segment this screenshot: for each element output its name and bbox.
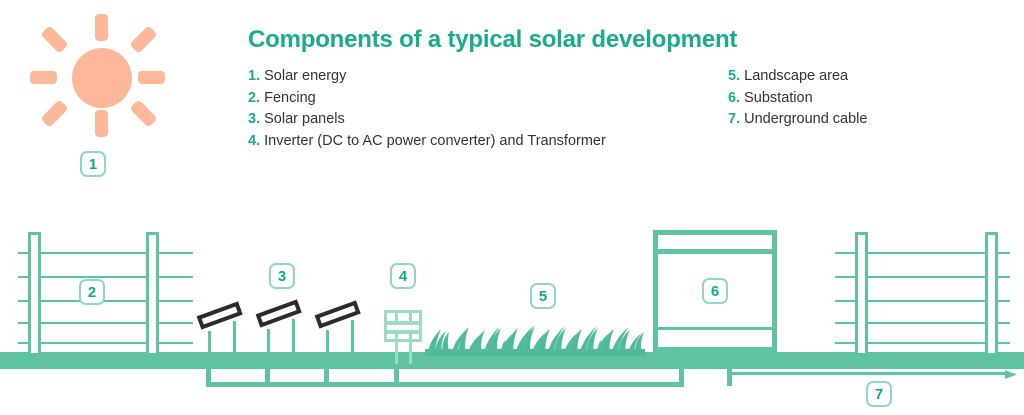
solar-panel-3	[317, 311, 365, 356]
badge-5-landscape-area[interactable]: 5	[530, 283, 556, 309]
legend-label-2: Fencing	[264, 90, 316, 106]
legend-column-right: 5. Landscape area 6. Substation 7. Under…	[728, 66, 867, 131]
badge-3-solar-panels[interactable]: 3	[269, 263, 295, 289]
legend-number-1: 1.	[248, 68, 260, 84]
legend-number-6: 6.	[728, 90, 740, 106]
inverter-divider	[409, 313, 412, 322]
page-title: Components of a typical solar developmen…	[248, 26, 737, 54]
legend-item-1: 1. Solar energy	[248, 66, 606, 88]
cable-collector-bus	[206, 382, 684, 387]
badge-2-fencing[interactable]: 2	[79, 279, 105, 305]
inverter-divider	[409, 333, 412, 342]
solar-panel-leg	[233, 321, 236, 353]
legend-item-7: 7. Underground cable	[728, 109, 867, 131]
substation-leg	[681, 352, 686, 364]
legend-item-5: 5. Landscape area	[728, 66, 867, 88]
legend-item-6: 6. Substation	[728, 88, 867, 110]
fence-post	[28, 232, 41, 353]
fence-wire	[18, 300, 193, 302]
sun-core	[72, 48, 132, 108]
inverter-leg	[409, 342, 412, 364]
sun-ray-n	[95, 14, 108, 41]
sun-icon	[24, 12, 172, 142]
fence-wire	[18, 252, 193, 254]
badge-1-solar-energy[interactable]: 1	[80, 151, 106, 177]
legend-item-4: 4. Inverter (DC to AC power converter) a…	[248, 131, 606, 153]
sun-ray-sw	[40, 99, 68, 127]
inverter-divider	[395, 333, 398, 342]
landscape-grass	[425, 311, 645, 356]
badge-6-substation[interactable]: 6	[702, 278, 728, 304]
badge-7-underground-cable[interactable]: 7	[866, 381, 892, 407]
substation-base-band	[658, 327, 772, 330]
legend-number-7: 7.	[728, 111, 740, 127]
inverter-divider	[395, 313, 398, 322]
legend-label-5: Landscape area	[744, 68, 848, 84]
sun-ray-ne	[129, 25, 157, 53]
solar-development-diagram: Components of a typical solar developmen…	[0, 0, 1024, 415]
legend-item-2: 2. Fencing	[248, 88, 606, 110]
cable-riser-substation-in	[679, 369, 684, 387]
solar-panel-leg	[326, 330, 329, 353]
inverter-leg	[395, 342, 398, 364]
fence-post	[985, 232, 998, 353]
sun-ray-se	[129, 99, 157, 127]
inverter-band	[384, 321, 422, 325]
substation-leg	[744, 352, 749, 364]
legend-number-2: 2.	[248, 90, 260, 106]
solar-panel-leg	[208, 331, 211, 353]
fence-post	[146, 232, 159, 353]
solar-panel-leg	[267, 329, 270, 353]
sun-ray-s	[95, 110, 108, 137]
sun-ray-e	[138, 71, 165, 84]
solar-panel-leg	[292, 319, 295, 353]
fence-post	[855, 232, 868, 353]
substation-roof-band	[658, 249, 772, 254]
fence-wire	[18, 342, 193, 344]
cable-export-arrow	[727, 370, 1017, 380]
legend-number-5: 5.	[728, 68, 740, 84]
legend-number-3: 3.	[248, 111, 260, 127]
legend-label-4: Inverter (DC to AC power converter) and …	[264, 133, 606, 149]
badge-4-inverter[interactable]: 4	[390, 263, 416, 289]
fence-wire	[18, 276, 193, 278]
legend-label-1: Solar energy	[264, 68, 346, 84]
fence-right	[835, 232, 1010, 353]
legend-item-3: 3. Solar panels	[248, 109, 606, 131]
fence-left	[18, 232, 193, 353]
solar-panel-1	[199, 312, 247, 357]
solar-panel-leg	[351, 320, 354, 353]
solar-panel-2	[258, 310, 306, 355]
legend-label-7: Underground cable	[744, 111, 867, 127]
legend-label-6: Substation	[744, 90, 813, 106]
inverter-band	[384, 330, 422, 334]
legend-number-4: 4.	[248, 133, 260, 149]
legend-column-left: 1. Solar energy 2. Fencing 3. Solar pane…	[248, 66, 606, 152]
sun-ray-w	[30, 71, 57, 84]
inverter-box	[384, 310, 422, 342]
fence-wire	[18, 322, 193, 324]
legend-label-3: Solar panels	[264, 111, 345, 127]
sun-ray-nw	[40, 25, 68, 53]
inverter-transformer	[384, 310, 422, 352]
